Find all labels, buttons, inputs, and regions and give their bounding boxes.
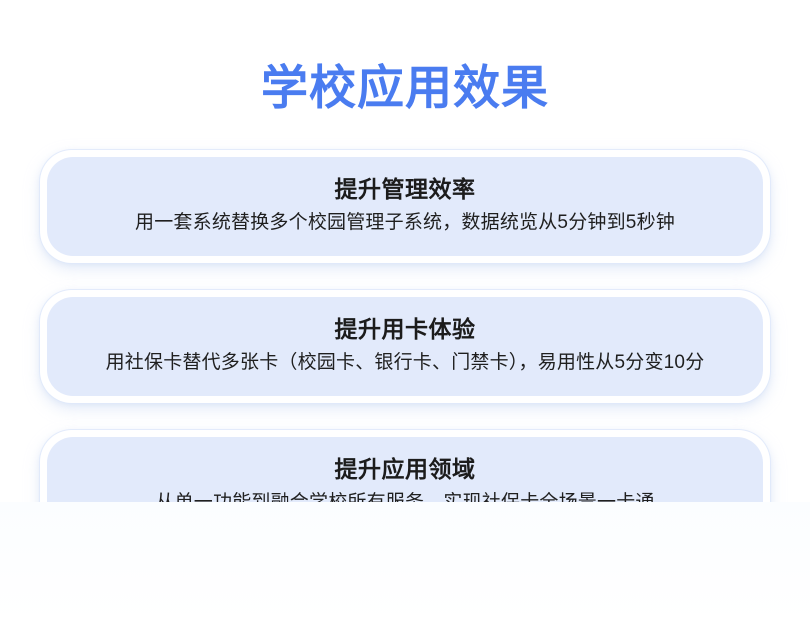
benefit-card-2: 提升用卡体验 用社保卡替代多张卡（校园卡、银行卡、门禁卡），易用性从5分变10分	[40, 290, 770, 403]
benefit-card-1-description: 用一套系统替换多个校园管理子系统，数据统览从5分钟到5秒钟	[73, 208, 737, 237]
page-title: 学校应用效果	[0, 58, 810, 118]
benefit-card-3: 提升应用领域 从单一功能到融合学校所有服务，实现社保卡全场景一卡通	[40, 430, 770, 543]
benefit-card-3-body: 提升应用领域 从单一功能到融合学校所有服务，实现社保卡全场景一卡通	[47, 437, 763, 536]
benefit-card-1-body: 提升管理效率 用一套系统替换多个校园管理子系统，数据统览从5分钟到5秒钟	[47, 157, 763, 256]
benefit-card-1-heading: 提升管理效率	[73, 173, 737, 205]
benefit-card-1: 提升管理效率 用一套系统替换多个校园管理子系统，数据统览从5分钟到5秒钟	[40, 150, 770, 263]
benefit-card-3-description: 从单一功能到融合学校所有服务，实现社保卡全场景一卡通	[73, 488, 737, 517]
benefit-card-list: 提升管理效率 用一套系统替换多个校园管理子系统，数据统览从5分钟到5秒钟 提升用…	[0, 150, 810, 570]
benefit-card-2-description: 用社保卡替代多张卡（校园卡、银行卡、门禁卡），易用性从5分变10分	[73, 348, 737, 377]
benefit-card-2-heading: 提升用卡体验	[73, 313, 737, 345]
benefit-card-3-heading: 提升应用领域	[73, 453, 737, 485]
slide-root: 学校应用效果 提升管理效率 用一套系统替换多个校园管理子系统，数据统览从5分钟到…	[0, 0, 810, 622]
benefit-card-2-body: 提升用卡体验 用社保卡替代多张卡（校园卡、银行卡、门禁卡），易用性从5分变10分	[47, 297, 763, 396]
